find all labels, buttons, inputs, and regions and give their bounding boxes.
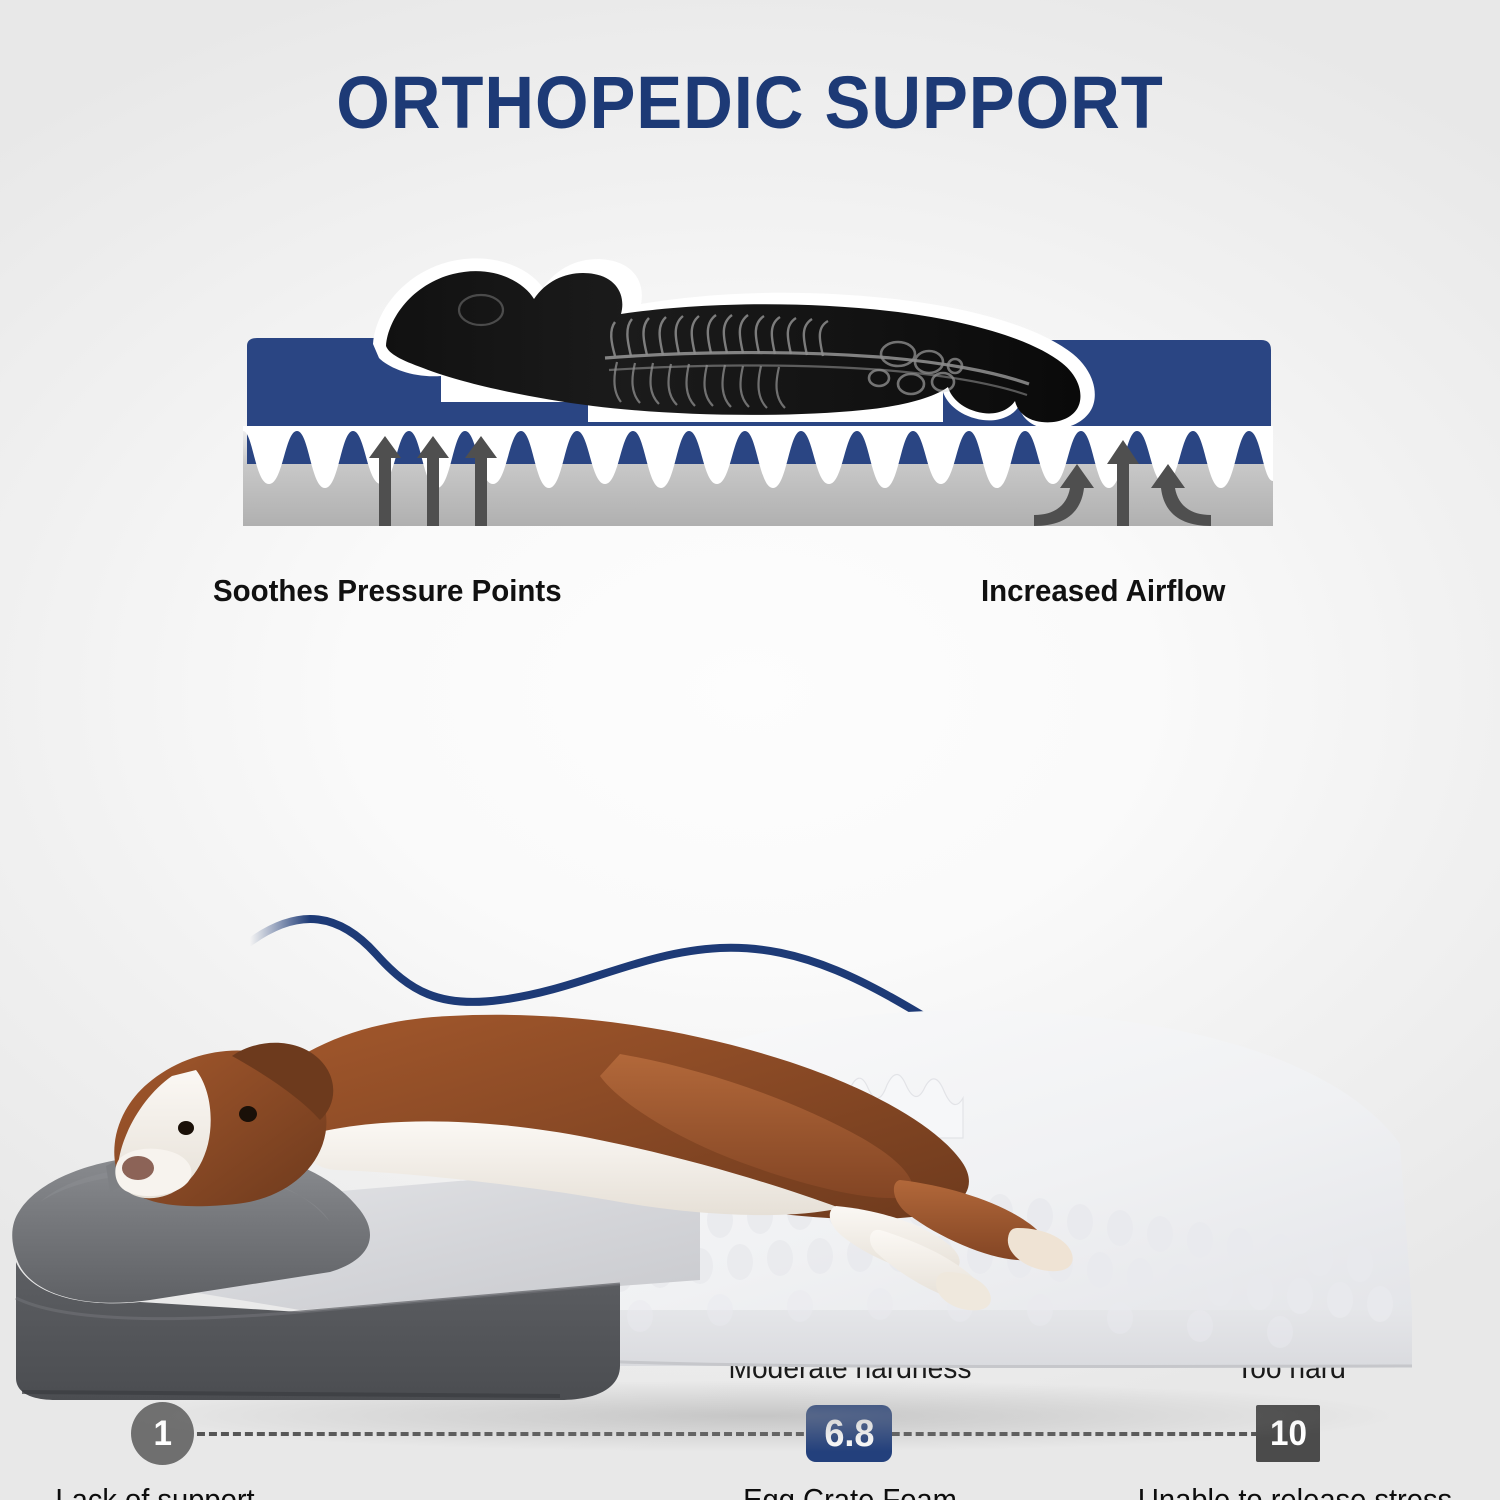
dog-eye-left <box>178 1121 194 1135</box>
product-photo <box>0 880 1500 1500</box>
pressure-arrows <box>369 436 497 526</box>
infographic-page: ORTHOPEDIC SUPPORT <box>0 0 1500 1500</box>
hardness-scale: Too soft Moderate hardness Too hard 1 6.… <box>0 660 1500 880</box>
pressure-points-label: Soothes Pressure Points <box>213 573 562 609</box>
airflow-label: Increased Airflow <box>981 573 1225 609</box>
dog-eye-right <box>239 1106 257 1122</box>
dog-nose <box>122 1156 154 1180</box>
page-title: ORTHOPEDIC SUPPORT <box>53 60 1448 145</box>
cross-section-diagram <box>243 226 1273 526</box>
